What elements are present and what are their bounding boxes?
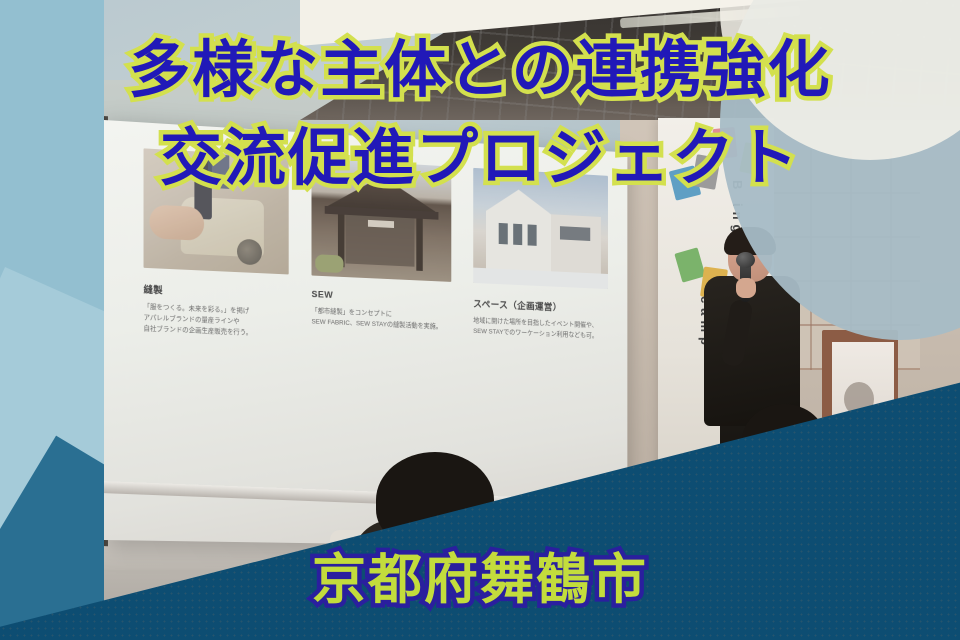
slide-body-sew: 「都市縫製」をコンセプトに SEW FABRIC、SEW STAYの縫製活動を実… xyxy=(311,307,451,334)
presenter-hand xyxy=(736,278,756,298)
slide-body-space: 地域に開けた場所を目指したイベント開催や、 SEW STAYでのワーケーション利… xyxy=(473,316,608,342)
headline-line-1: 多様な主体との連携強化 xyxy=(128,33,831,106)
slide-body-sewing: 「服をつくる。未来を彩る。」を掲げ アパレルブランドの量産ラインや 自社ブランド… xyxy=(144,303,289,341)
headline-line-2: 交流促進プロジェクト xyxy=(0,114,960,202)
slide-heading-space: スペース（企画運営） xyxy=(473,296,608,315)
slide-heading-sew: SEW xyxy=(311,289,451,306)
headline-title: 多様な主体との連携強化 交流促進プロジェクト xyxy=(0,26,960,202)
slide-heading-sewing: 縫製 xyxy=(144,282,289,302)
microphone-head-icon xyxy=(736,252,755,268)
screenshot-stage: SAKU 縫製 「服をつくる。未来を彩る。」を掲げ アパレルブランドの量産ライン… xyxy=(0,0,960,640)
city-caption: 京都府舞鶴市 xyxy=(0,535,960,614)
